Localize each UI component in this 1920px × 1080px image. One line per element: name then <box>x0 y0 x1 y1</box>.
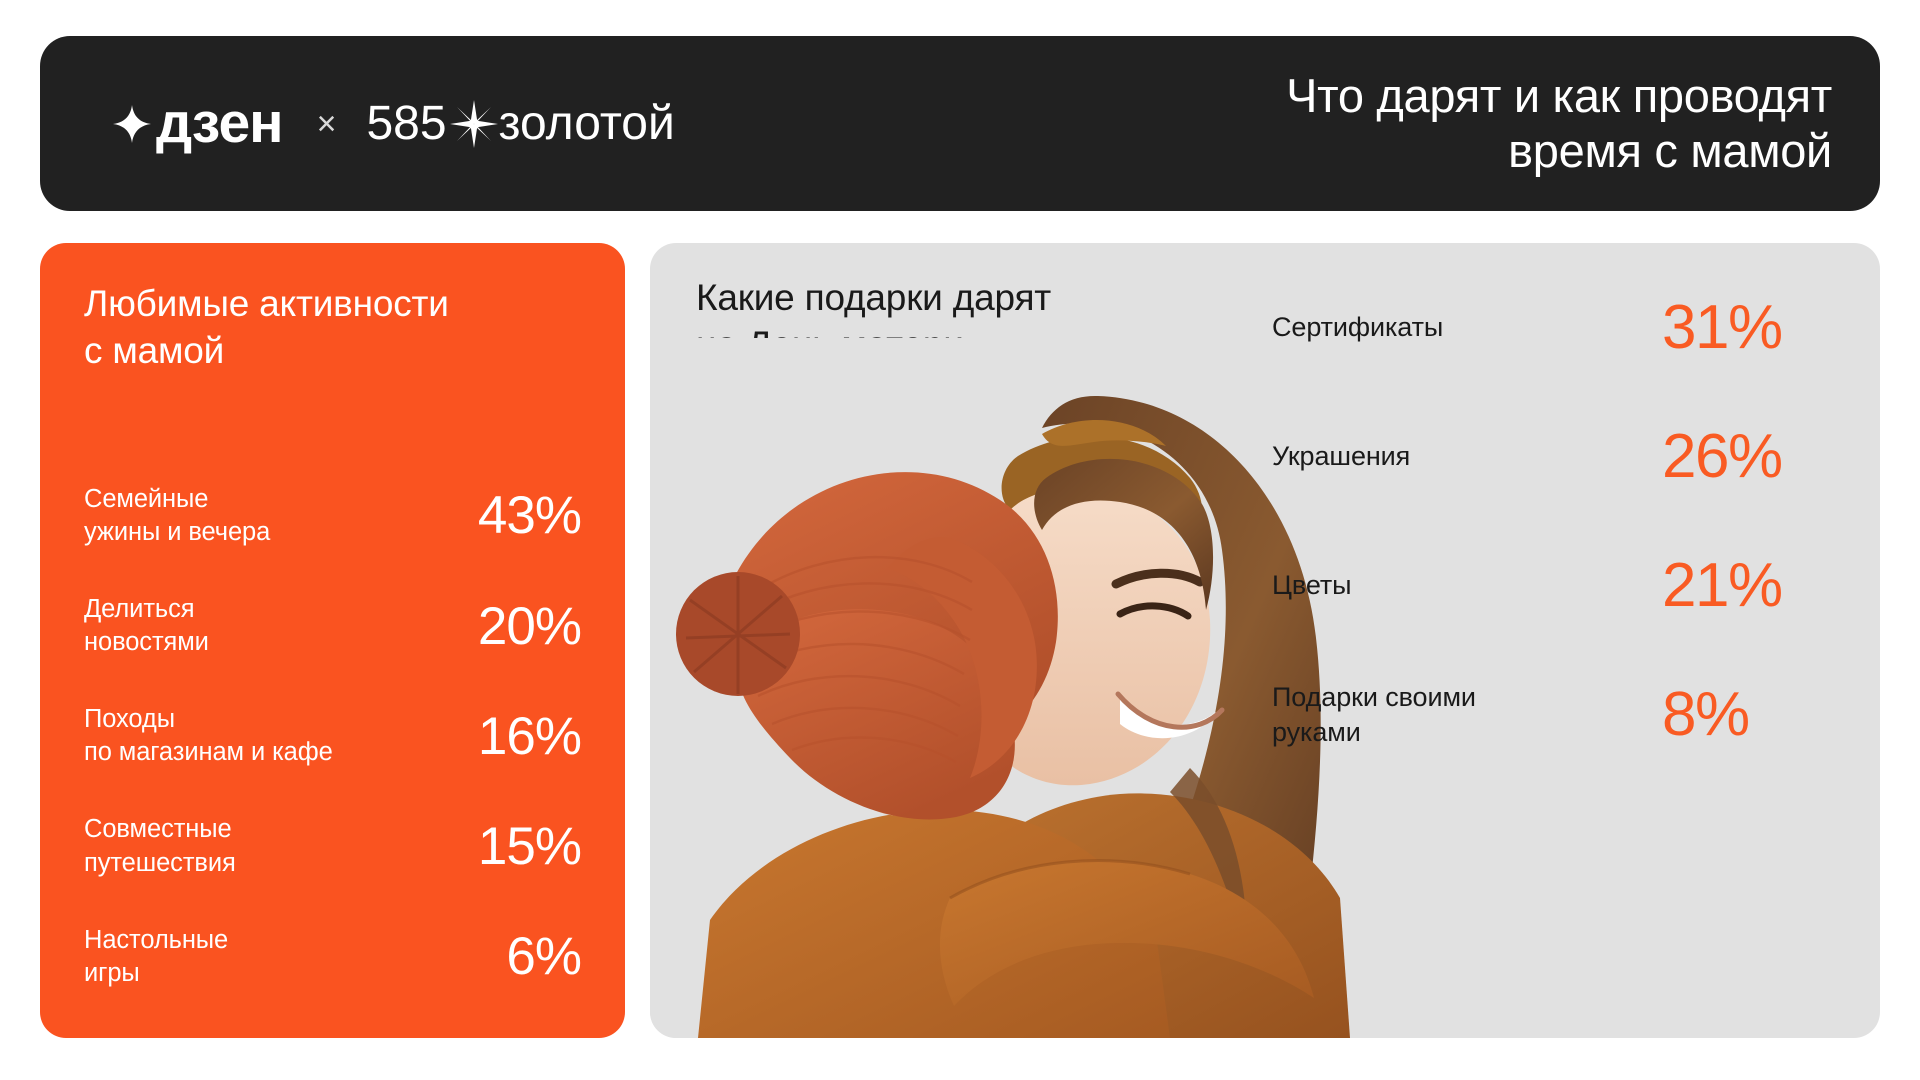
page-title-line2: время с мамой <box>1286 124 1832 179</box>
eight-point-star-icon <box>449 99 499 149</box>
stat-label-line1: Сертификаты <box>1272 312 1443 342</box>
stat-row: Настольные игры 6% <box>84 924 581 990</box>
stat-value: 43% <box>478 489 581 542</box>
stat-value: 6% <box>506 930 581 983</box>
stat-label: Настольные игры <box>84 924 228 990</box>
stat-row: Совместные путешествия 15% <box>84 813 581 879</box>
infographic-canvas: дзен × 585 золотой <box>0 0 1920 1080</box>
stat-value: 8% <box>1662 684 1832 746</box>
stat-label-line2: по магазинам и кафе <box>84 738 333 766</box>
stat-label: Делиться новостями <box>84 593 209 659</box>
stat-row: Походы по магазинам и кафе 16% <box>84 703 581 769</box>
activities-card-heading: Любимые активности с мамой <box>84 281 581 374</box>
page-title: Что дарят и как проводят время с мамой <box>1286 69 1832 178</box>
four-point-sparkle-icon <box>110 102 154 146</box>
stat-value: 16% <box>478 710 581 763</box>
stat-value: 31% <box>1662 297 1832 359</box>
stat-label-line2: ужины и вечера <box>84 518 270 546</box>
stat-value: 15% <box>478 820 581 873</box>
brand-gold-label: золотой <box>499 100 675 148</box>
mother-and-child-photo <box>650 338 1350 1038</box>
activities-stat-list: Семейные ужины и вечера 43% Делиться нов… <box>84 483 581 1008</box>
stat-label-line2: руками <box>1272 717 1361 747</box>
stat-label-line1: Цветы <box>1272 570 1351 600</box>
stat-value: 20% <box>478 600 581 653</box>
stat-label-line2: игры <box>84 959 140 987</box>
stat-label-line1: Походы <box>84 705 175 733</box>
stat-label-line1: Украшения <box>1272 441 1410 471</box>
stat-label: Семейные ужины и вечера <box>84 483 270 549</box>
header-bar: дзен × 585 золотой <box>40 36 1880 211</box>
stat-label: Украшения <box>1272 439 1410 474</box>
stat-label-line2: путешествия <box>84 849 236 877</box>
stat-label: Походы по магазинам и кафе <box>84 703 333 769</box>
gifts-card: Какие подарки дарят на День матери <box>650 243 1880 1038</box>
stat-label-line1: Совместные <box>84 815 232 843</box>
cards-row: Любимые активности с мамой Семейные ужин… <box>40 243 1880 1043</box>
stat-label-line1: Семейные <box>84 485 208 513</box>
stat-label: Сертификаты <box>1272 310 1443 345</box>
stat-row: Подарки своими руками 8% <box>1272 650 1832 779</box>
page-title-line1: Что дарят и как проводят <box>1286 69 1832 124</box>
gifts-stat-list: Сертификаты 31% Украшения 26% Цветы 21% <box>1272 263 1832 779</box>
gifts-heading-line1: Какие подарки дарят <box>696 277 1051 318</box>
brand-zen-label: дзен <box>156 95 283 152</box>
stat-row: Делиться новостями 20% <box>84 593 581 659</box>
stat-label-line2: новостями <box>84 628 209 656</box>
stat-row: Цветы 21% <box>1272 521 1832 650</box>
stat-label-line1: Подарки своими <box>1272 682 1476 712</box>
stat-label-line1: Делиться <box>84 595 194 623</box>
multiply-icon: × <box>317 107 337 141</box>
stat-row: Украшения 26% <box>1272 392 1832 521</box>
activities-card: Любимые активности с мамой Семейные ужин… <box>40 243 625 1038</box>
brand-lockup: дзен × 585 золотой <box>110 95 675 152</box>
activities-heading-line1: Любимые активности <box>84 283 449 324</box>
stat-value: 21% <box>1662 555 1832 617</box>
brand-585-label: 585 <box>366 100 446 148</box>
stat-label: Совместные путешествия <box>84 813 236 879</box>
stat-row: Семейные ужины и вечера 43% <box>84 483 581 549</box>
stat-value: 26% <box>1662 426 1832 488</box>
activities-heading-line2: с мамой <box>84 330 224 371</box>
stat-row: Сертификаты 31% <box>1272 263 1832 392</box>
stat-label: Цветы <box>1272 568 1351 603</box>
stat-label: Подарки своими руками <box>1272 680 1476 749</box>
stat-label-line1: Настольные <box>84 926 228 954</box>
